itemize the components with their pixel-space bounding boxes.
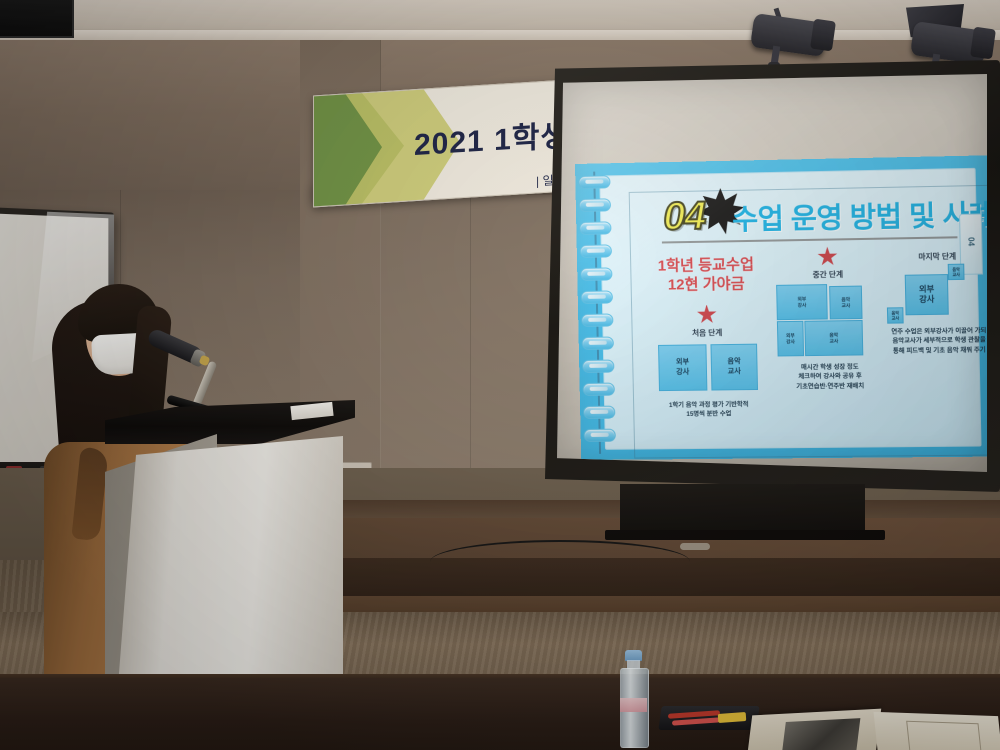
spiral-ring [583,406,615,419]
ceiling-speaker [0,0,74,38]
role-box: 외부 강사 [776,284,828,320]
role-box: 외부 강사 [777,321,804,357]
star-icon [696,304,717,324]
spiral-ring [578,175,610,189]
spiral-ring [582,337,614,350]
role-box: 음악 교사 [804,320,863,356]
booklet-photo [782,718,861,750]
spiral-ring [582,360,614,373]
spiral-ring [580,244,612,258]
column-final-stage: 마지막 단계 음악 교사 외부 강사 음악 교사 연주 수업은 외부강사가 이끌… [884,248,987,356]
display-stand [620,484,865,536]
role-box: 음악 교사 [829,286,862,320]
presentation-display: 04 수업 운영 방법 및 사례 04 1학년 등교수업 12현 가야금 [545,60,1000,492]
spiral-ring [583,383,615,396]
role-box: 음악 교사 [887,307,904,323]
spiral-binding [578,171,614,454]
cable-connector [680,543,710,550]
display-foot [605,530,885,540]
heading-line-1: 1학년 등교수업 [646,256,766,277]
spotlight-lens [810,19,836,52]
spiral-ring [581,313,613,326]
star-icon [817,246,838,267]
spiral-ring [579,198,611,212]
role-box: 외부 강사 [658,344,707,391]
booklet-frame [906,721,982,750]
bottle-label [620,698,647,712]
column-first-stage: 1학년 등교수업 12현 가야금 처음 단계 외부 강사 음악 교사 1학기 음… [646,256,769,420]
water-bottle [618,650,648,746]
spiral-ring [584,429,616,442]
role-box: 음악 교사 [710,343,758,390]
spiral-ring [579,221,611,235]
wall-seam [470,190,471,490]
column-caption: 연주 수업은 외부강사가 이끌어 가되 음악교사가 세부적으로 학생 관찰을 통… [885,326,987,356]
spotlight-lens [970,27,996,60]
column-middle-stage: 중간 단계 외부 강사 음악 교사 외부 강사 음악 교사 매시간 학생 성장 … [771,246,886,392]
stage-label: 처음 단계 [648,326,767,339]
slide-title: 수업 운영 방법 및 사례 [732,193,987,238]
stage-label: 마지막 단계 [884,250,987,263]
highlighter-yellow [718,712,747,723]
spiral-ring [581,290,613,303]
slide-paper: 04 수업 운영 방법 및 사례 04 1학년 등교수업 12현 가야금 [599,168,981,450]
heading-line-2: 12현 가야금 [647,275,767,296]
stage-label: 중간 단계 [772,268,885,281]
open-booklet [750,706,1000,750]
column-caption: 매시간 학생 성장 정도 체크하여 강사와 공유 후 기초연습반·연주반 재배치 [774,362,887,392]
display-screen: 04 수업 운영 방법 및 사례 04 1학년 등교수업 12현 가야금 [557,74,987,472]
column-caption: 1학기 음악 과정 평가 기반학적 15명씩 분반 수업 [649,399,769,419]
slide-surface: 04 수업 운영 방법 및 사례 04 1학년 등교수업 12현 가야금 [575,155,987,460]
section-heading: 1학년 등교수업 12현 가야금 [646,256,766,296]
role-box: 음악 교사 [948,264,965,281]
spiral-ring [580,267,612,281]
role-box: 외부 강사 [905,274,949,315]
presentation-room-photo: 2021 1학생 1 | 일시 호 [0,0,1000,750]
slide-number: 04 [663,196,706,236]
